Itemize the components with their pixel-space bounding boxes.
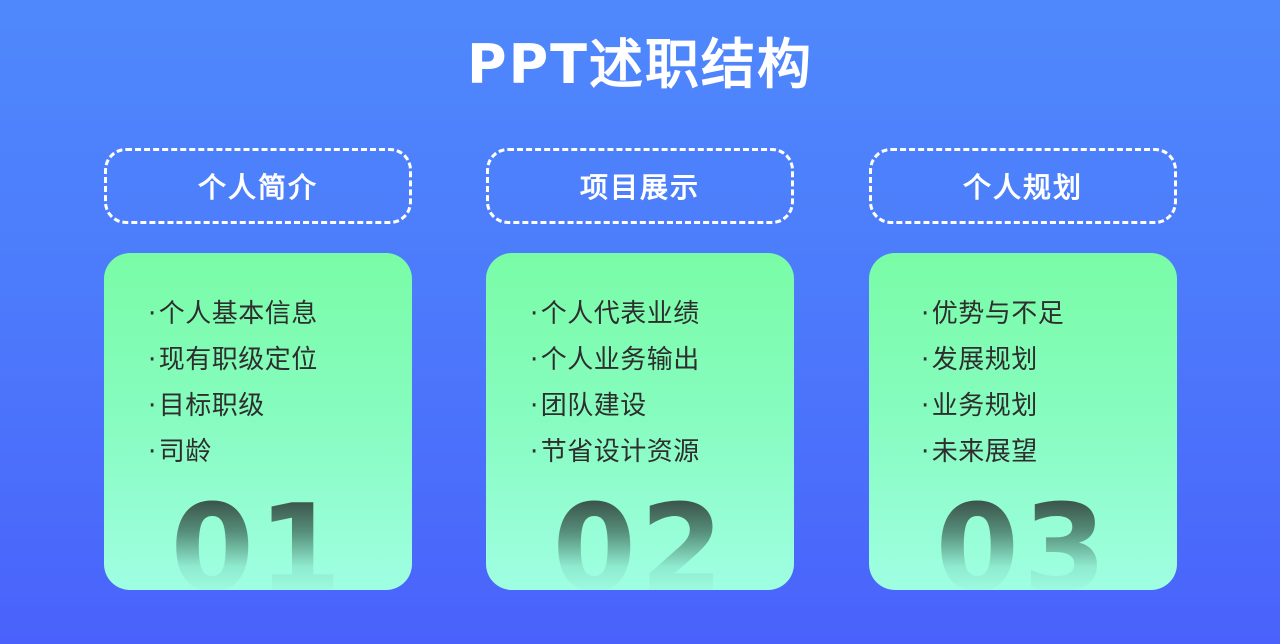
bullet-icon: · (921, 429, 930, 475)
list-item: ·个人基本信息 (148, 291, 412, 337)
list-item: ·发展规划 (921, 337, 1177, 383)
list-item-label: 未来展望 (932, 437, 1038, 467)
card-list-2: ·个人代表业绩 ·个人业务输出 ·团队建设 ·节省设计资源 (486, 253, 794, 475)
list-item: ·现有职级定位 (148, 337, 412, 383)
column-personal-profile: 个人简介 ·个人基本信息 ·现有职级定位 ·目标职级 ·司龄 01 (104, 148, 412, 590)
list-item: ·优势与不足 (921, 291, 1177, 337)
section-header-chip-2[interactable]: 项目展示 (486, 148, 794, 224)
content-card-1[interactable]: ·个人基本信息 ·现有职级定位 ·目标职级 ·司龄 01 (104, 253, 412, 590)
section-header-label-3: 个人规划 (963, 166, 1083, 206)
bullet-icon: · (148, 291, 157, 337)
list-item-label: 业务规划 (932, 391, 1038, 421)
section-header-chip-1[interactable]: 个人简介 (104, 148, 412, 224)
card-number-3: 03 (869, 490, 1177, 590)
card-number-2: 02 (486, 490, 794, 590)
list-item-label: 发展规划 (932, 345, 1038, 375)
bullet-icon: · (921, 291, 930, 337)
bullet-icon: · (921, 337, 930, 383)
list-item: ·业务规划 (921, 383, 1177, 429)
bullet-icon: · (530, 429, 539, 475)
slide-canvas: PPT述职结构 个人简介 ·个人基本信息 ·现有职级定位 ·目标职级 ·司龄 0… (0, 0, 1280, 644)
bullet-icon: · (530, 291, 539, 337)
section-header-label-1: 个人简介 (198, 166, 318, 206)
card-list-3: ·优势与不足 ·发展规划 ·业务规划 ·未来展望 (869, 253, 1177, 475)
bullet-icon: · (530, 383, 539, 429)
bullet-icon: · (921, 383, 930, 429)
content-card-3[interactable]: ·优势与不足 ·发展规划 ·业务规划 ·未来展望 03 (869, 253, 1177, 590)
list-item-label: 个人代表业绩 (541, 299, 700, 329)
list-item: ·个人代表业绩 (530, 291, 794, 337)
list-item-label: 个人业务输出 (541, 345, 700, 375)
list-item: ·目标职级 (148, 383, 412, 429)
page-title: PPT述职结构 (0, 34, 1280, 96)
list-item-label: 目标职级 (159, 391, 265, 421)
card-number-1: 01 (104, 490, 412, 590)
section-header-label-2: 项目展示 (580, 166, 700, 206)
list-item: ·司龄 (148, 429, 412, 475)
list-item: ·节省设计资源 (530, 429, 794, 475)
list-item-label: 节省设计资源 (541, 437, 700, 467)
content-card-2[interactable]: ·个人代表业绩 ·个人业务输出 ·团队建设 ·节省设计资源 02 (486, 253, 794, 590)
list-item-label: 司龄 (159, 437, 212, 467)
column-personal-plan: 个人规划 ·优势与不足 ·发展规划 ·业务规划 ·未来展望 03 (869, 148, 1177, 590)
column-project-showcase: 项目展示 ·个人代表业绩 ·个人业务输出 ·团队建设 ·节省设计资源 02 (486, 148, 794, 590)
bullet-icon: · (148, 383, 157, 429)
bullet-icon: · (148, 337, 157, 383)
bullet-icon: · (148, 429, 157, 475)
list-item: ·未来展望 (921, 429, 1177, 475)
list-item: ·团队建设 (530, 383, 794, 429)
list-item-label: 优势与不足 (932, 299, 1065, 329)
bullet-icon: · (530, 337, 539, 383)
list-item-label: 个人基本信息 (159, 299, 318, 329)
card-list-1: ·个人基本信息 ·现有职级定位 ·目标职级 ·司龄 (104, 253, 412, 475)
list-item-label: 团队建设 (541, 391, 647, 421)
list-item-label: 现有职级定位 (159, 345, 318, 375)
list-item: ·个人业务输出 (530, 337, 794, 383)
section-header-chip-3[interactable]: 个人规划 (869, 148, 1177, 224)
